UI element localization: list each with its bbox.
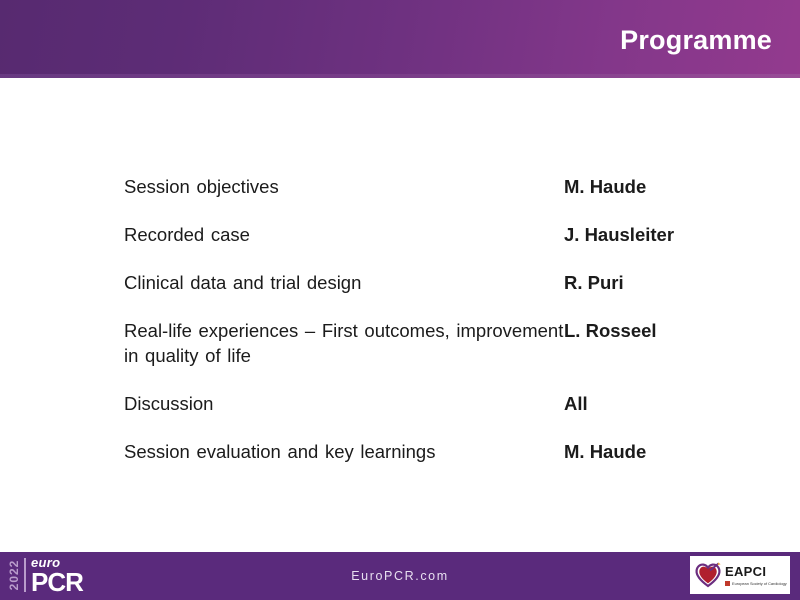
eapci-subtitle-row: European Society of Cardiology bbox=[725, 581, 787, 586]
eapci-logo: EAPCI European Society of Cardiology bbox=[690, 556, 790, 594]
eapci-name: EAPCI bbox=[725, 565, 787, 579]
programme-row: Session evaluation and key learnings M. … bbox=[124, 439, 784, 464]
europcr-logo: 2022 euro PCR bbox=[8, 553, 83, 597]
programme-topic: Real-life experiences – First outcomes, … bbox=[124, 318, 564, 368]
header-underline bbox=[0, 74, 800, 78]
programme-table: Session objectives M. Haude Recorded cas… bbox=[124, 174, 784, 487]
eapci-text-block: EAPCI European Society of Cardiology bbox=[725, 565, 787, 586]
programme-row: Real-life experiences – First outcomes, … bbox=[124, 318, 784, 368]
programme-topic: Session objectives bbox=[124, 174, 564, 199]
programme-speaker: M. Haude bbox=[564, 174, 774, 199]
programme-topic: Discussion bbox=[124, 391, 564, 416]
programme-speaker: R. Puri bbox=[564, 270, 774, 295]
logo-wordmark: euro PCR bbox=[31, 556, 83, 594]
programme-row: Discussion All bbox=[124, 391, 784, 416]
programme-row: Recorded case J. Hausleiter bbox=[124, 222, 784, 247]
footer-url-text: EuroPCR.com bbox=[351, 569, 448, 583]
slide-header: Programme bbox=[0, 0, 800, 78]
logo-divider bbox=[24, 558, 26, 592]
footer-url: EuroPCR.com bbox=[0, 552, 800, 600]
programme-topic: Clinical data and trial design bbox=[124, 270, 564, 295]
eapci-subtitle: European Society of Cardiology bbox=[732, 581, 787, 586]
heart-icon bbox=[694, 561, 722, 589]
logo-pcr-text: PCR bbox=[31, 570, 83, 594]
programme-speaker: All bbox=[564, 391, 774, 416]
programme-speaker: L. Rosseel bbox=[564, 318, 774, 343]
logo-year: 2022 bbox=[7, 555, 21, 595]
programme-speaker: J. Hausleiter bbox=[564, 222, 774, 247]
programme-topic: Session evaluation and key learnings bbox=[124, 439, 564, 464]
slide: Programme Session objectives M. Haude Re… bbox=[0, 0, 800, 600]
esc-square-icon bbox=[725, 581, 730, 586]
programme-row: Session objectives M. Haude bbox=[124, 174, 784, 199]
page-title: Programme bbox=[620, 24, 772, 56]
programme-speaker: M. Haude bbox=[564, 439, 774, 464]
programme-topic: Recorded case bbox=[124, 222, 564, 247]
programme-row: Clinical data and trial design R. Puri bbox=[124, 270, 784, 295]
